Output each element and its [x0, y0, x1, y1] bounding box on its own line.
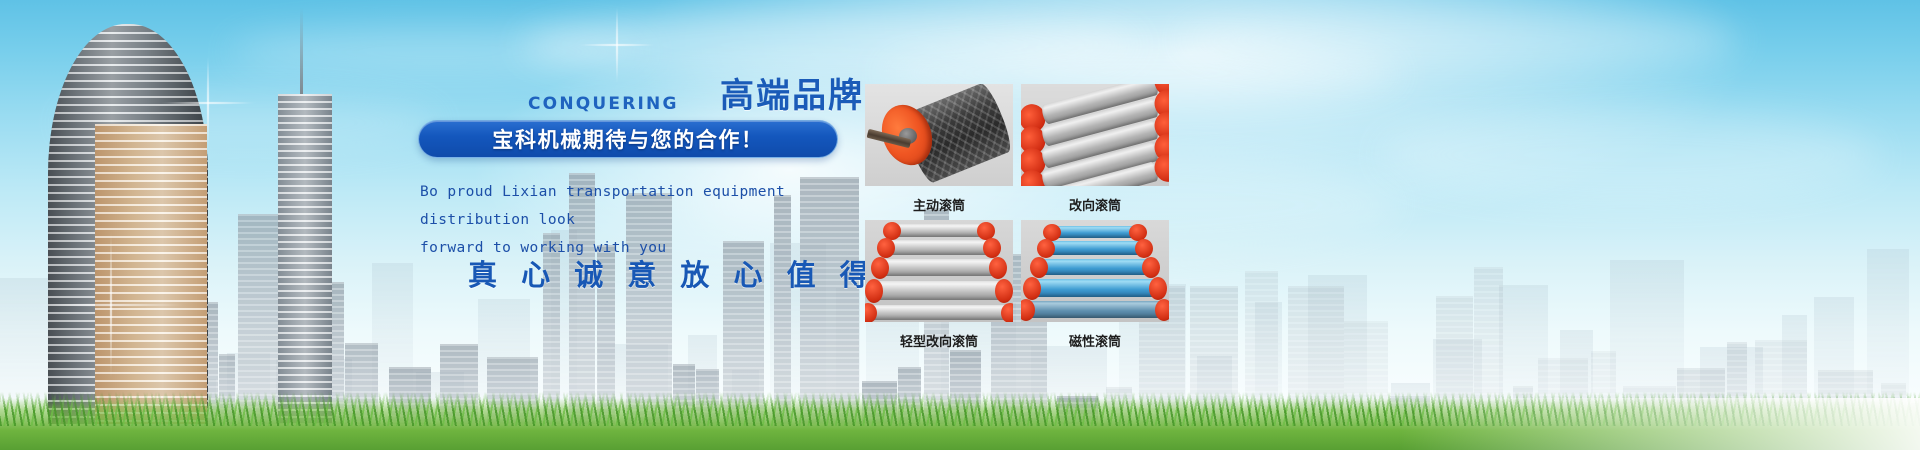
bend-pulley-photo	[1021, 84, 1169, 186]
magnetic-pulley-photo	[1021, 220, 1169, 322]
cloud-streak	[60, 96, 440, 150]
product-caption: 轻型改向滚筒	[865, 322, 1013, 350]
cloud-streak	[230, 28, 650, 76]
product-caption: 磁性滚筒	[1021, 322, 1169, 350]
glass-tower-building	[48, 24, 208, 424]
product-caption: 主动滚筒	[865, 186, 1013, 214]
ribbon-label: 宝科机械期待与您的合作！	[492, 124, 763, 154]
lens-flare-icon	[578, 6, 656, 84]
product-card[interactable]: 主动滚筒	[865, 84, 1013, 214]
product-card[interactable]: 改向滚筒	[1021, 84, 1169, 214]
spire-tower-building	[278, 94, 332, 424]
subcopy-line-1: Bo proud Lixian transportation equipment…	[420, 178, 900, 234]
drive-pulley-photo	[865, 84, 1013, 186]
product-caption: 改向滚筒	[1021, 186, 1169, 214]
product-card[interactable]: 轻型改向滚筒	[865, 220, 1013, 350]
cloud-streak	[1380, 110, 1880, 200]
beige-tower-building	[95, 124, 207, 424]
product-card[interactable]: 磁性滚筒	[1021, 220, 1169, 350]
promotional-banner: 高端品牌 CONQUERING 宝科机械期待与您的合作！ Bo proud Li…	[0, 0, 1920, 450]
product-thumbnail-grid: 主动滚筒 改向滚筒 轻型改向滚筒 磁性滚筒	[865, 84, 1169, 350]
light-bend-pulley-photo	[865, 220, 1013, 322]
eyebrow-text: CONQUERING	[528, 94, 679, 114]
subcopy-paragraph: Bo proud Lixian transportation equipment…	[420, 178, 900, 262]
cloud-streak	[1180, 8, 1740, 72]
tower-antenna	[300, 8, 303, 94]
lens-flare-icon	[36, 230, 186, 380]
brand-headline: 高端品牌	[720, 68, 864, 117]
grass-fade-overlay	[1400, 398, 1920, 450]
ribbon-banner: 宝科机械期待与您的合作！	[418, 120, 838, 158]
lens-flare-icon	[160, 55, 256, 151]
